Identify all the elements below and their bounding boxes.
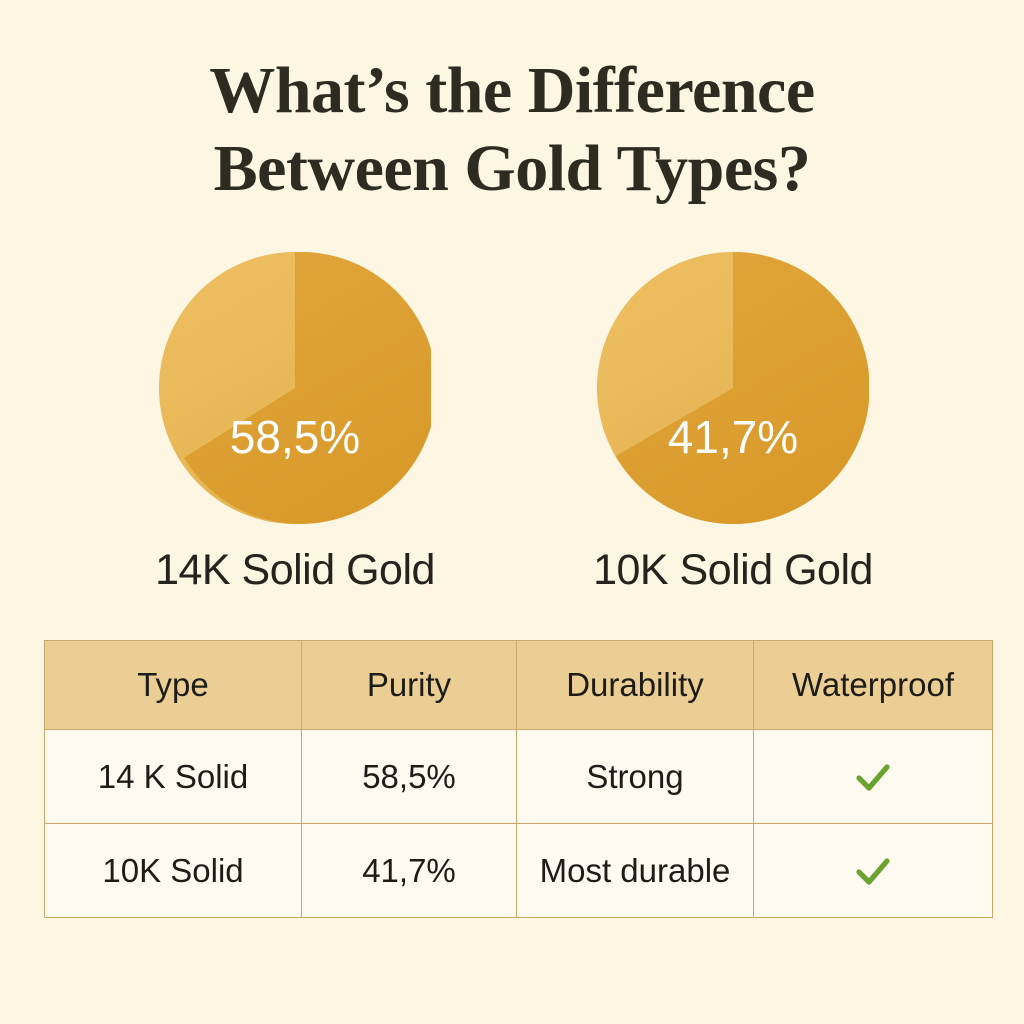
column-header-waterproof: Waterproof [754,641,993,730]
pie-chart-group-14k: 58,5% 14K Solid Gold [95,252,495,595]
pie-caption-10k: 10K Solid Gold [533,546,933,595]
pie-chart-14k-svg [159,252,431,524]
comparison-table: Type Purity Durability Waterproof 14 K S… [44,640,993,918]
check-icon [853,851,893,891]
page-title-line-2: Between Gold Types? [0,130,1024,208]
cell-purity-14k: 58,5% [302,730,517,824]
column-header-type: Type [45,641,302,730]
cell-type-14k: 14 K Solid [45,730,302,824]
table-body: 14 K Solid 58,5% Strong 10K Solid 41,7% [45,730,993,918]
pie-caption-14k: 14K Solid Gold [95,546,495,595]
page-title-line-1: What’s the Difference [0,52,1024,130]
cell-type-10k: 10K Solid [45,824,302,918]
table-header: Type Purity Durability Waterproof [45,641,993,730]
pie-chart-10k: 41,7% [597,252,869,524]
pie-chart-group-10k: 41,7% 10K Solid Gold [533,252,933,595]
table-header-row: Type Purity Durability Waterproof [45,641,993,730]
table-row: 14 K Solid 58,5% Strong [45,730,993,824]
pie-chart-row: 58,5% 14K Solid Gold [0,252,1024,602]
column-header-durability: Durability [517,641,754,730]
column-header-purity: Purity [302,641,517,730]
cell-waterproof-10k [754,824,993,918]
pie-chart-10k-svg [597,252,869,524]
pie-chart-14k: 58,5% [159,252,431,524]
cell-durability-10k: Most durable [517,824,754,918]
page-title: What’s the Difference Between Gold Types… [0,52,1024,208]
cell-waterproof-14k [754,730,993,824]
infographic-canvas: What’s the Difference Between Gold Types… [0,0,1024,1024]
table-row: 10K Solid 41,7% Most durable [45,824,993,918]
check-icon [853,757,893,797]
comparison-table-wrapper: Type Purity Durability Waterproof 14 K S… [44,640,980,918]
cell-purity-10k: 41,7% [302,824,517,918]
cell-durability-14k: Strong [517,730,754,824]
